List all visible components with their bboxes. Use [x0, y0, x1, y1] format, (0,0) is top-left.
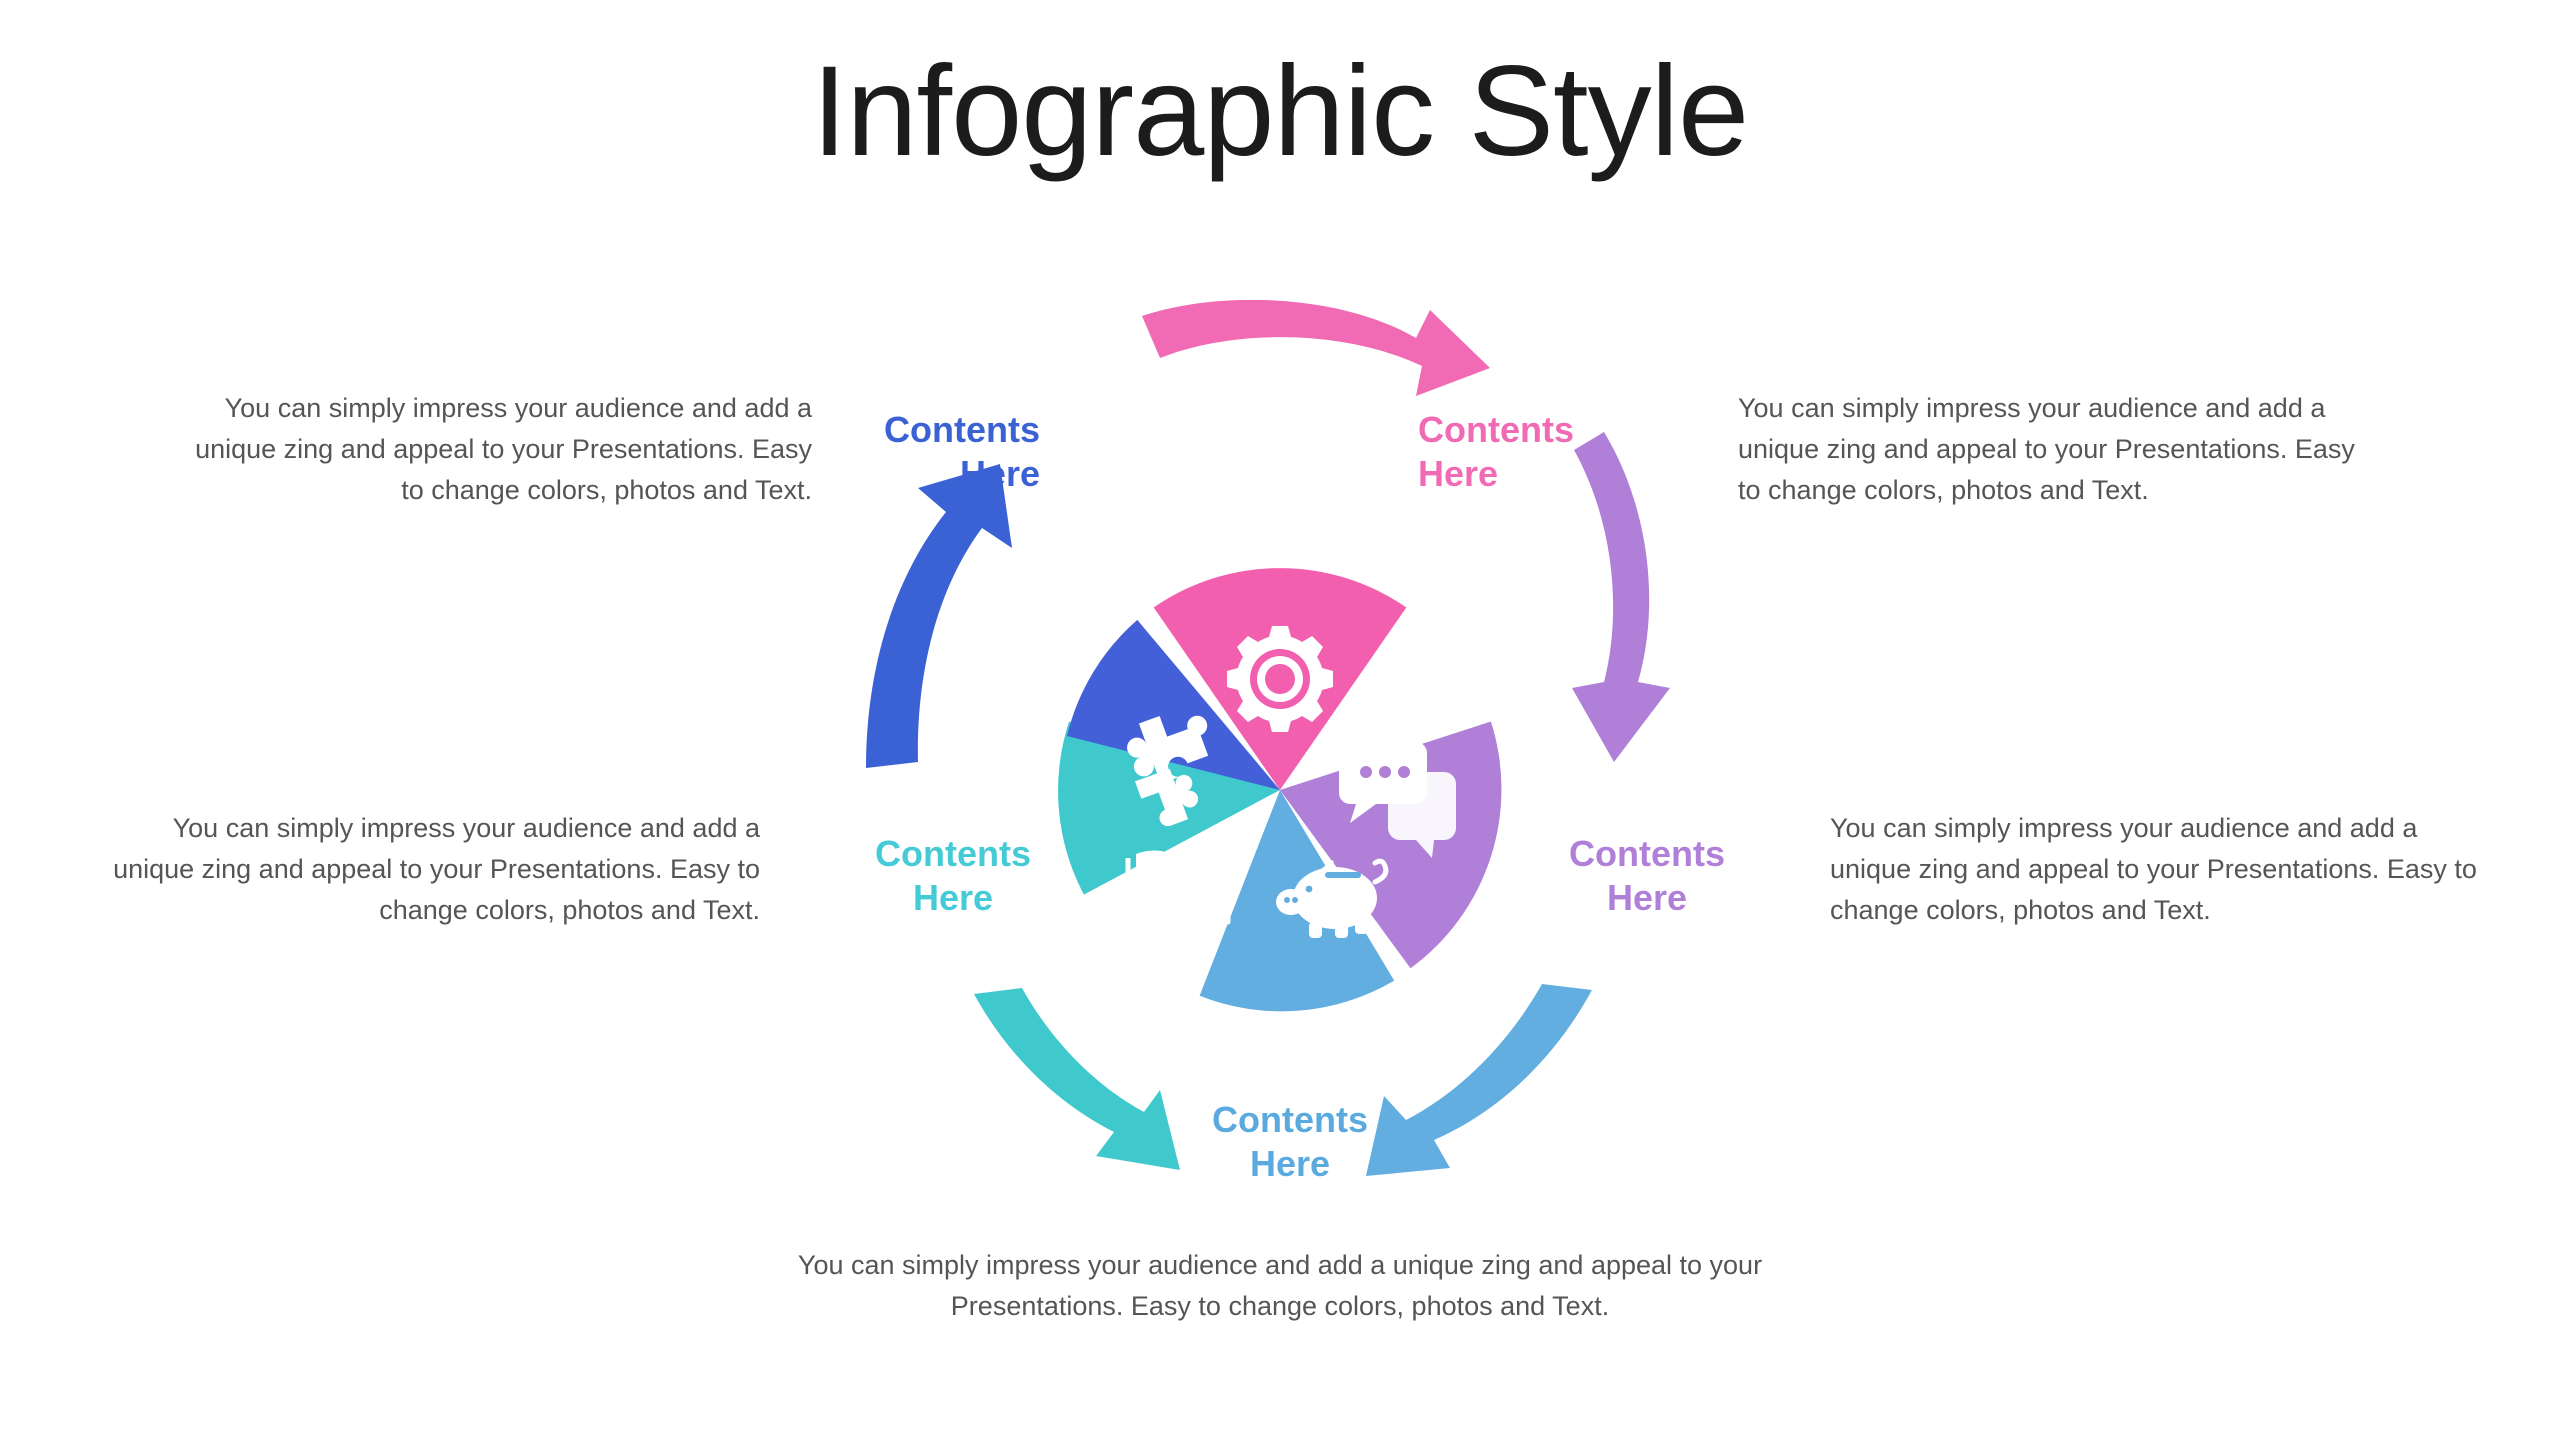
open-book-icon: [1128, 851, 1228, 922]
segment-description-piggy-bank: You can simply impress your audience and…: [735, 1245, 1825, 1327]
gear-icon: [1227, 626, 1333, 732]
segment-description-puzzle-top: You can simply impress your audience and…: [172, 388, 812, 511]
segment-description-chat: You can simply impress your audience and…: [1830, 808, 2490, 931]
segment-label-book[interactable]: Contents Here: [818, 832, 1088, 920]
arrow-top-icon: [1142, 300, 1490, 396]
pie-chart: [1050, 560, 1510, 1020]
segment-label-chat[interactable]: Contents Here: [1512, 832, 1782, 920]
page-title: Infographic Style: [0, 48, 2560, 176]
segment-description-gear: You can simply impress your audience and…: [1738, 388, 2378, 511]
segment-label-puzzle[interactable]: Contents Here: [780, 408, 1040, 496]
segment-label-piggy-bank[interactable]: Contents Here: [1150, 1098, 1430, 1186]
segment-label-gear[interactable]: Contents Here: [1418, 408, 1678, 496]
arrow-left-icon: [866, 464, 1012, 768]
segment-description-book: You can simply impress your audience and…: [100, 808, 760, 931]
